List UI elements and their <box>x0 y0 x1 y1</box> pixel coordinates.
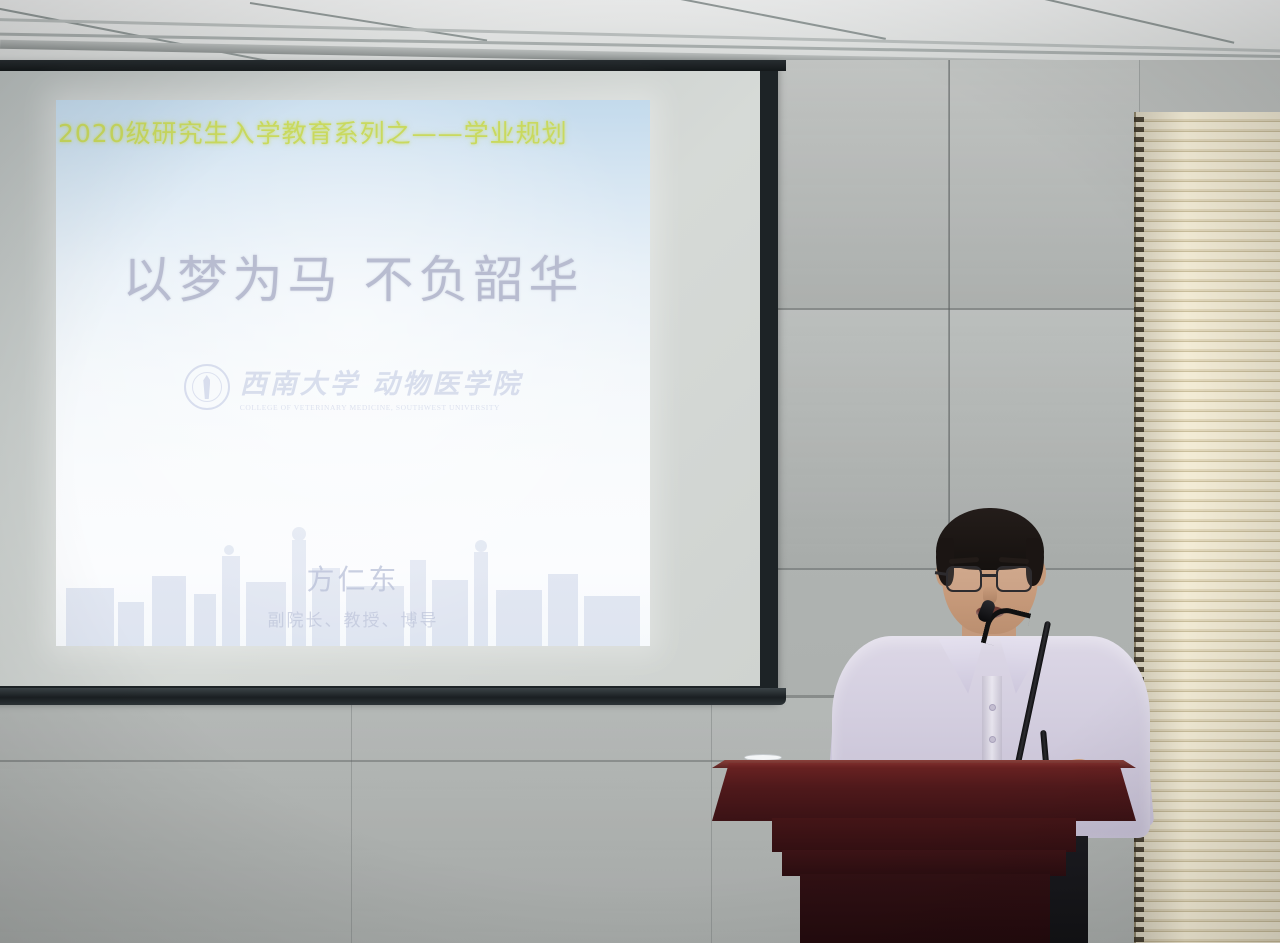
window-blinds[interactable] <box>1134 112 1280 943</box>
glasses-lens-left <box>946 566 982 592</box>
podium-top <box>712 763 1136 821</box>
glasses-lens-right <box>996 566 1032 592</box>
logo-chinese-text: 西南大学 动物医学院 <box>240 362 522 401</box>
slide-date: 2020.09.28 <box>56 643 650 646</box>
screen-bottom-bar[interactable] <box>0 688 786 705</box>
institution-logo: 西南大学 动物医学院 COLLEGE OF VETERINARY MEDICIN… <box>56 362 650 412</box>
projected-slide: 2020级研究生入学教育系列之——学业规划 以梦为马 不负韶华 西南大学 动物医… <box>56 100 650 646</box>
podium-column <box>800 874 1050 943</box>
paper-cup-rim <box>744 754 782 761</box>
slide-main-title: 以梦为马 不负韶华 <box>56 240 650 312</box>
university-seal-icon <box>184 364 230 410</box>
screen-top-rail <box>0 60 786 71</box>
lecture-hall-photo: 2020级研究生入学教育系列之——学业规划 以梦为马 不负韶华 西南大学 动物医… <box>0 0 1280 943</box>
podium-lower-tier <box>782 850 1066 876</box>
glasses-bridge <box>982 574 996 577</box>
slide-speaker-role: 副院长、教授、博导 <box>56 606 650 631</box>
slide-speaker-name: 方仁东 <box>56 558 650 598</box>
podium-mid-tier <box>772 818 1076 852</box>
slide-header-text: 2020级研究生入学教育系列之——学业规划 <box>58 114 638 150</box>
logo-english-text: COLLEGE OF VETERINARY MEDICINE, SOUTHWES… <box>240 403 500 412</box>
